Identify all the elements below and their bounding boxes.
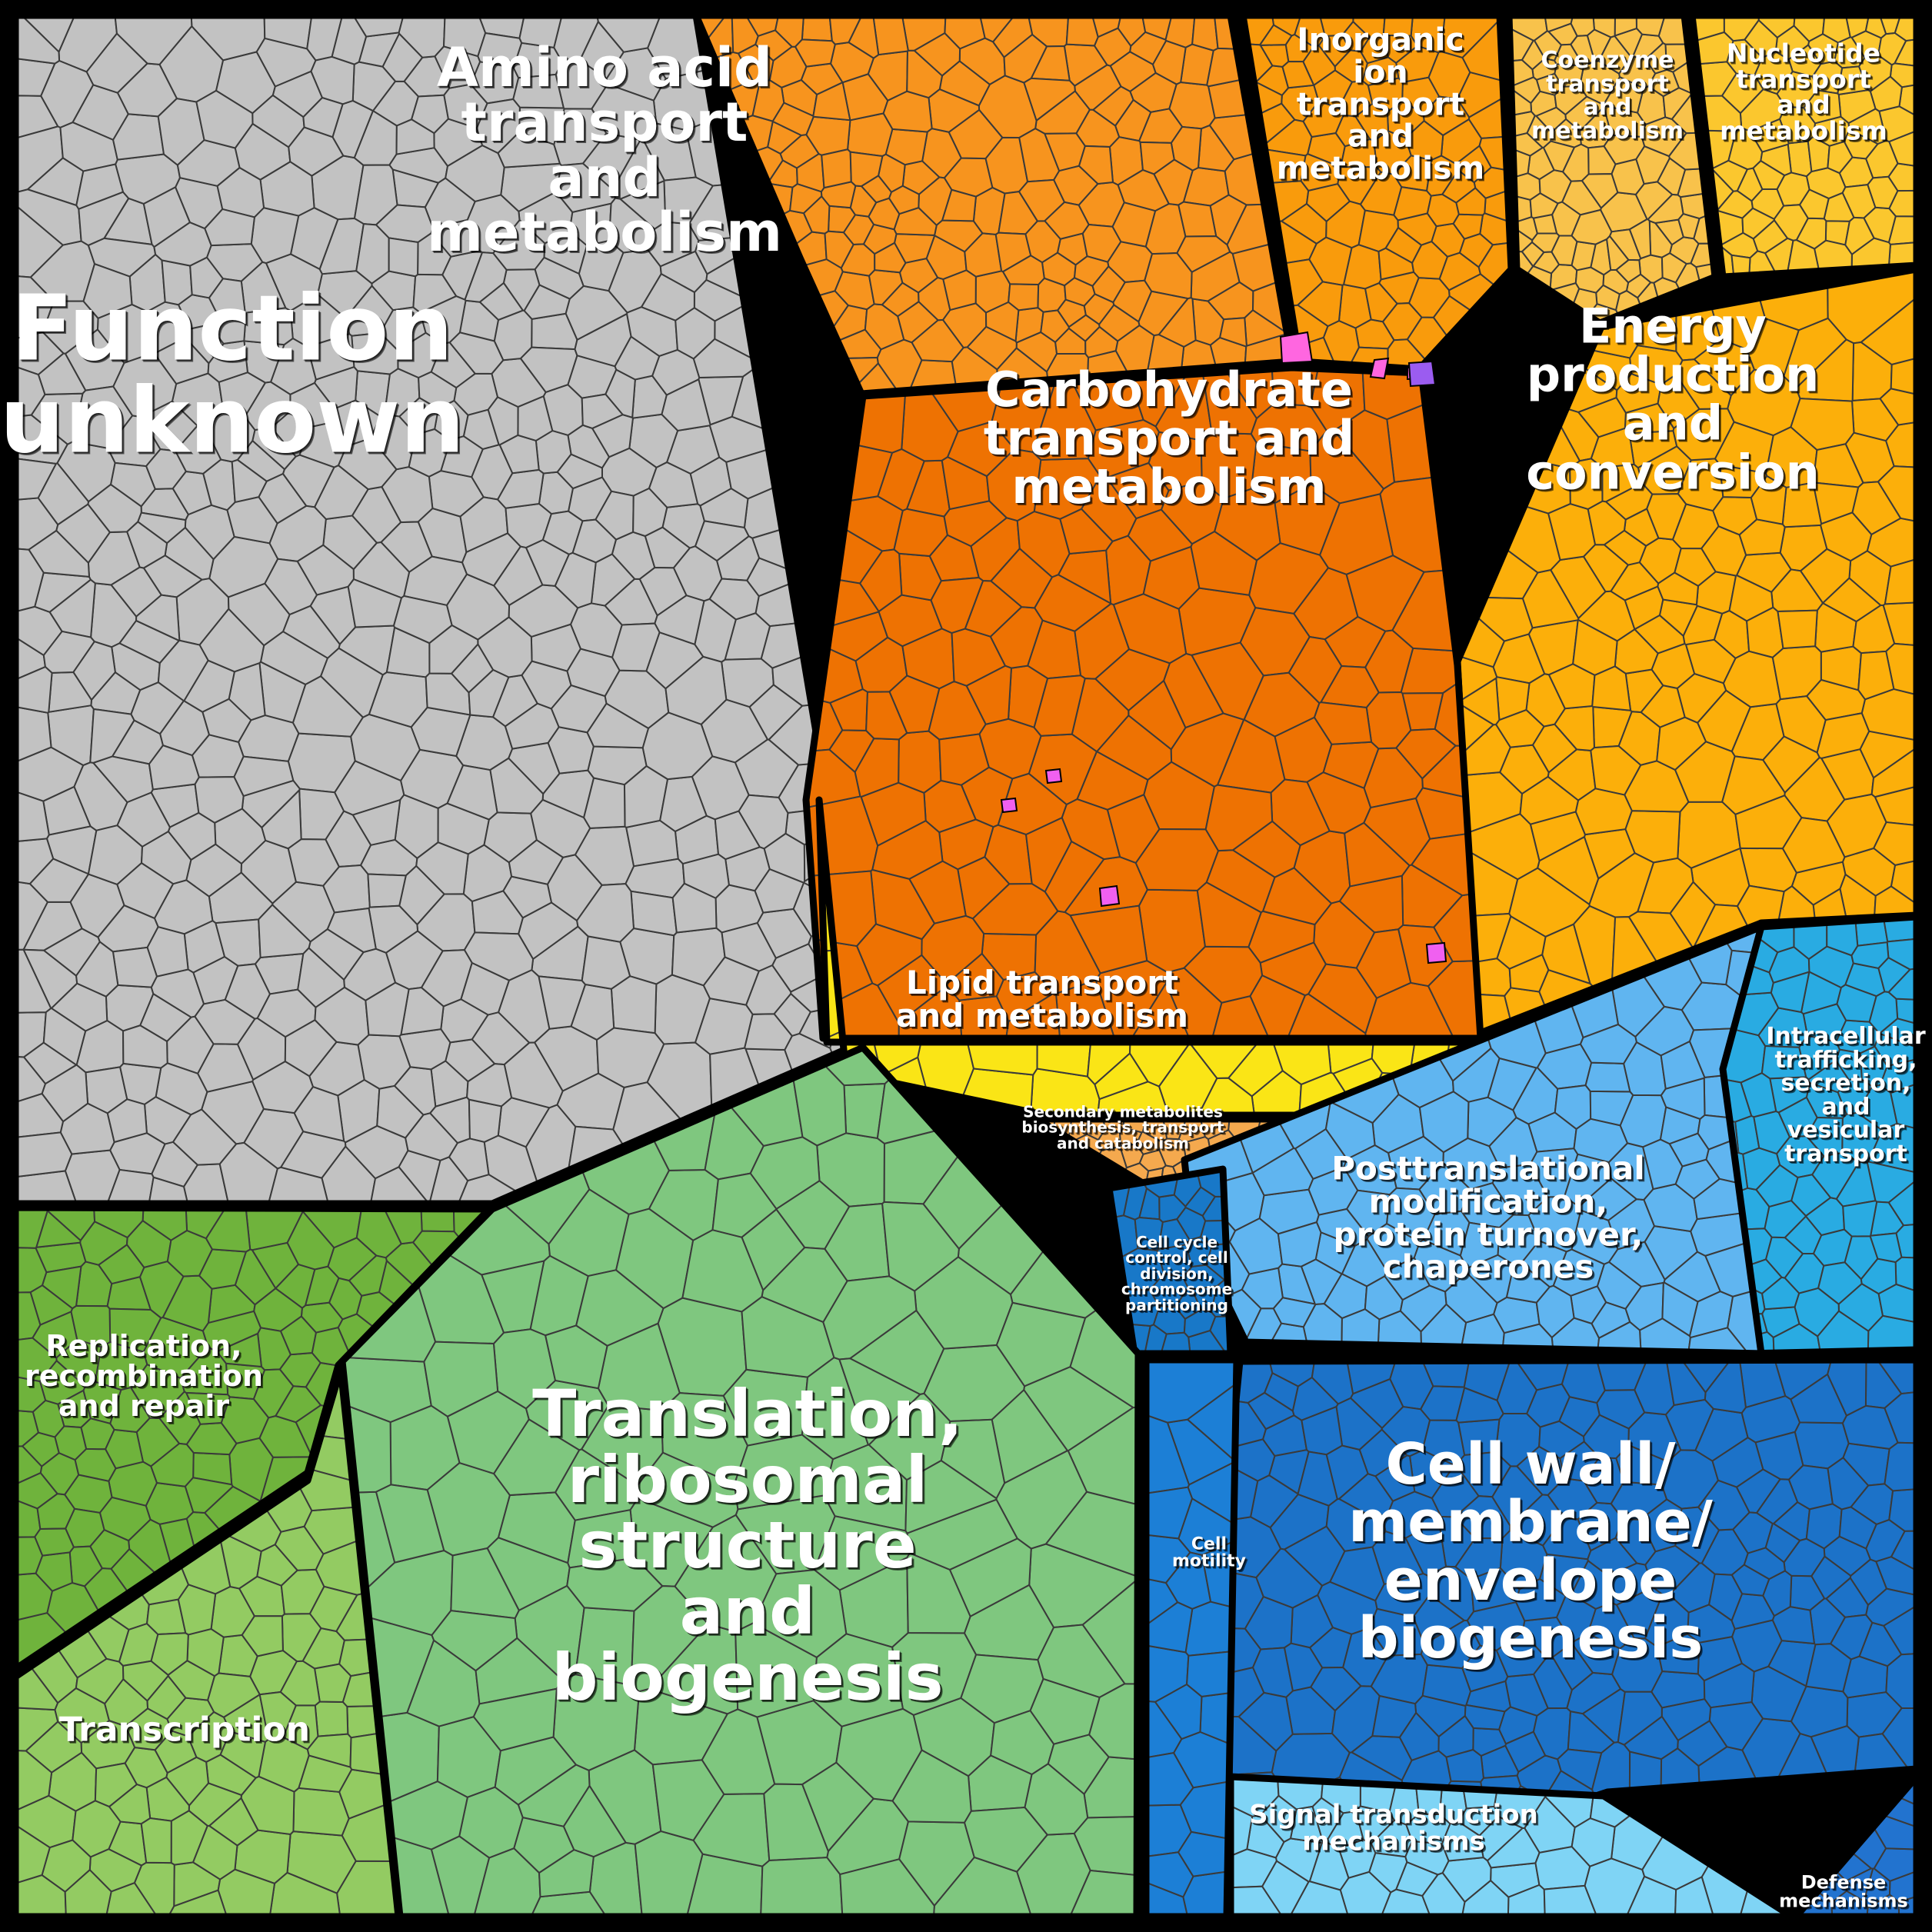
voronoi-cell [162, 260, 192, 305]
region-6[interactable] [806, 368, 1481, 1038]
voronoi-cell [244, 308, 292, 345]
voronoi-cell [1187, 1651, 1231, 1697]
voronoi-cell [1192, 15, 1217, 51]
voronoi-cell [1135, 1217, 1163, 1251]
micro-region-6[interactable] [1001, 798, 1017, 812]
voronoi-cell [1576, 788, 1632, 834]
voronoi-cell [478, 33, 521, 68]
voronoi-cell [1843, 1201, 1877, 1236]
micro-region-0[interactable] [1281, 332, 1312, 363]
voronoi-cell [1762, 1046, 1806, 1078]
micro-region-3[interactable] [1409, 361, 1435, 386]
voronoi-cell [1884, 1443, 1917, 1491]
voronoi-cell [1586, 1063, 1631, 1092]
voronoi-cell [631, 891, 676, 935]
voronoi-cell [575, 1607, 634, 1685]
voronoi-cell [15, 1132, 72, 1177]
voronoi-cell [1178, 202, 1216, 237]
region-13[interactable] [1146, 1360, 1237, 1917]
voronoi-cell [315, 1701, 348, 1736]
voronoi-cell [1630, 1752, 1661, 1790]
region-4[interactable] [1692, 15, 1917, 277]
micro-region-7[interactable] [1427, 943, 1446, 963]
voronoi-cell [1777, 611, 1817, 648]
voronoi-cell [1272, 368, 1318, 405]
voronoi-cell [1891, 358, 1917, 395]
voronoi-treemap-svg [0, 0, 1932, 1932]
voronoi-cell [514, 43, 562, 78]
voronoi-cell [1458, 1420, 1499, 1455]
voronoi-cell [821, 149, 851, 188]
voronoi-cell [802, 15, 832, 41]
voronoi-cell [898, 731, 941, 793]
micro-region-5[interactable] [1100, 886, 1119, 906]
voronoi-cell [519, 15, 561, 48]
voronoi-cell [1067, 15, 1098, 45]
voronoi-treemap-figure: Function unknownAmino acid transport and… [0, 0, 1932, 1932]
voronoi-cell [513, 75, 564, 108]
region-3[interactable] [1509, 15, 1715, 323]
region-11[interactable] [1109, 1169, 1231, 1354]
voronoi-cell [1570, 458, 1602, 509]
micro-region-4[interactable] [1046, 769, 1061, 783]
voronoi-cell [368, 874, 405, 908]
voronoi-cell [389, 238, 418, 276]
voronoi-cell [120, 1064, 161, 1104]
voronoi-cell [142, 1818, 172, 1863]
voronoi-cell [761, 1857, 842, 1917]
